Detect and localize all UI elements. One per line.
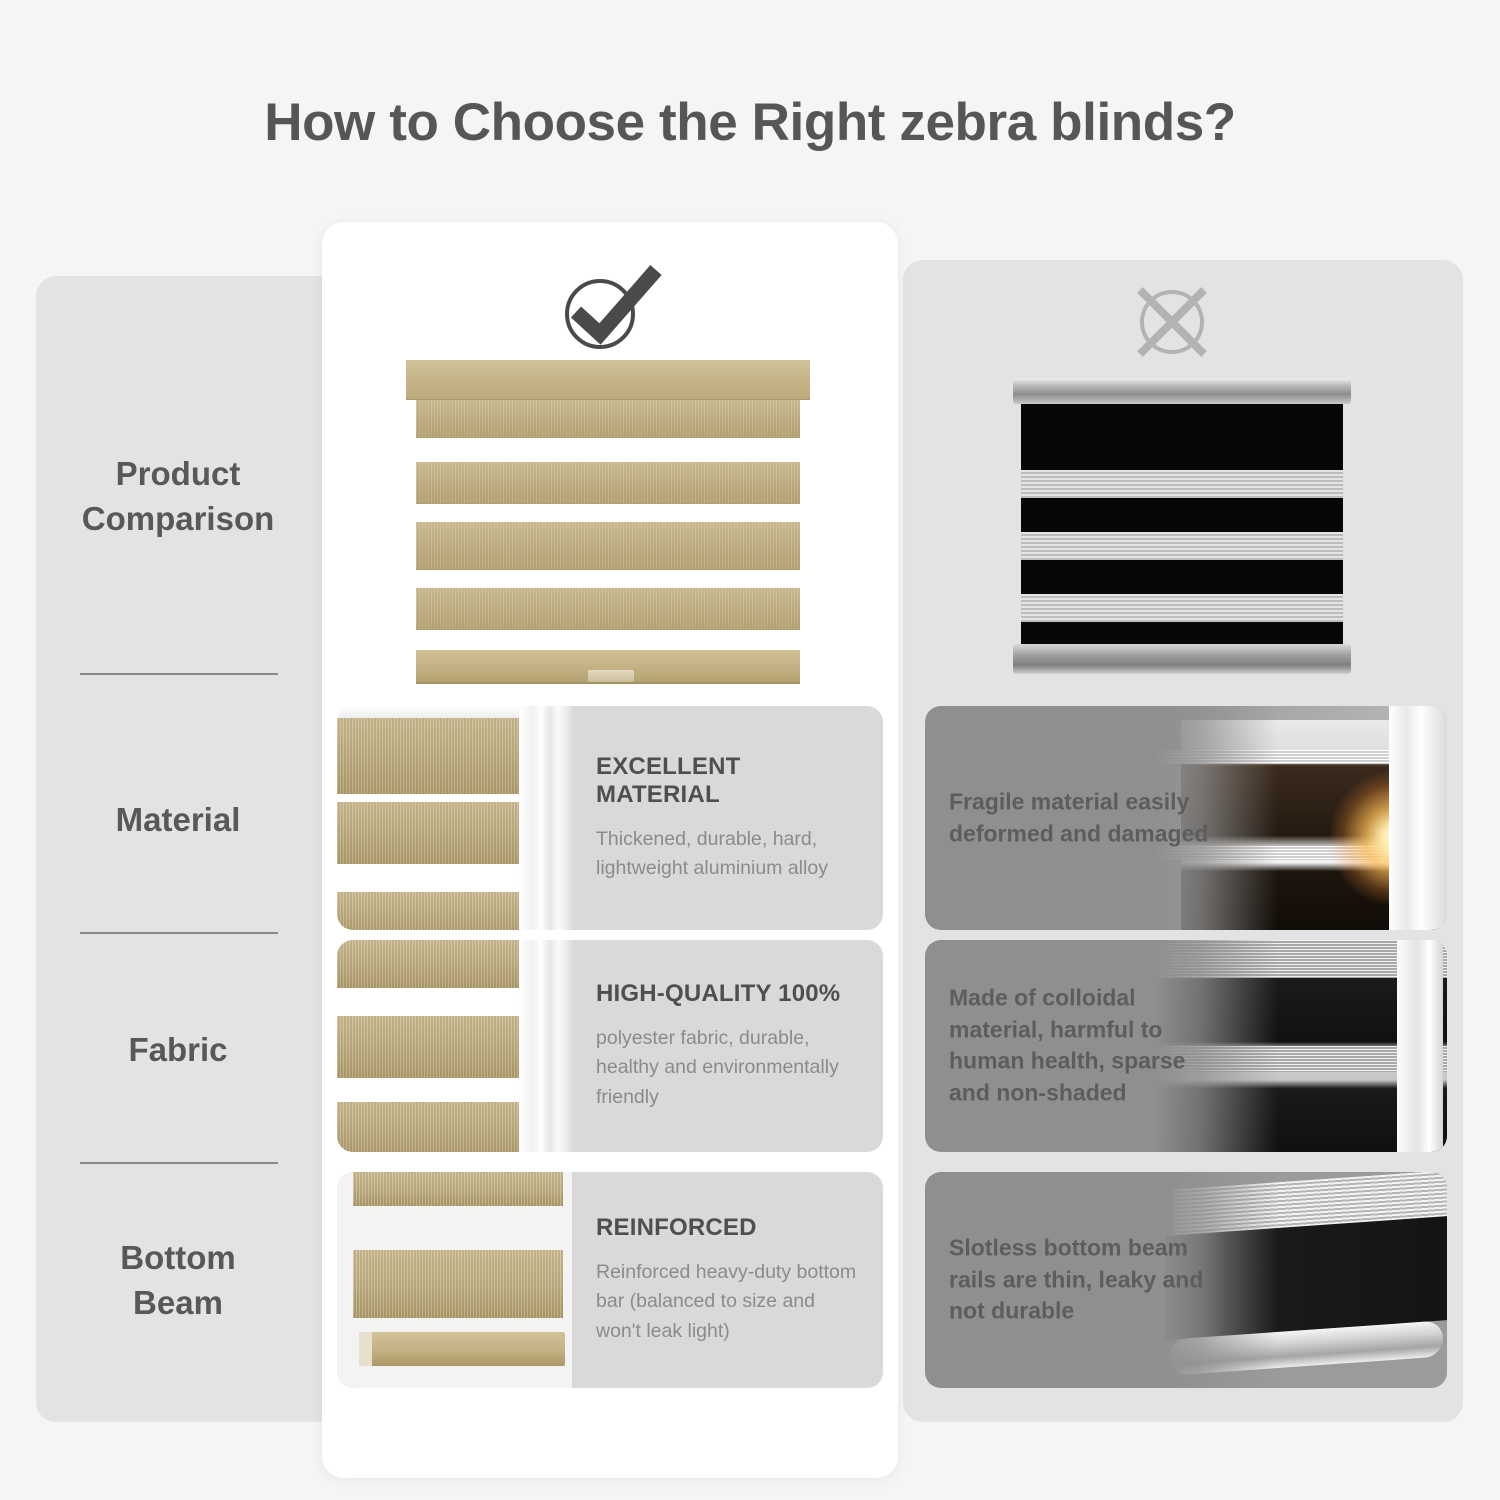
bad-material-text: Fragile material easily deformed and dam… <box>949 786 1217 849</box>
wood-headrail <box>406 360 810 400</box>
sheer-band <box>1021 532 1343 560</box>
white-window-frame <box>519 706 572 930</box>
sheer-slat-band <box>1173 1172 1447 1236</box>
row-label-line-1: Bottom <box>78 1236 278 1281</box>
x-circle-icon <box>1130 282 1214 360</box>
good-material-photo <box>337 706 572 930</box>
wood-band <box>337 1016 519 1078</box>
page-title: How to Choose the Right zebra blinds? <box>0 92 1500 153</box>
row-divider-3 <box>80 1162 278 1164</box>
row-label-line-1: Product <box>78 452 278 497</box>
row-label-line-2: Comparison <box>78 497 278 542</box>
wood-band <box>337 802 519 864</box>
good-feature-card-fabric: HIGH-QUALITY 100% polyester fabric, dura… <box>337 940 883 1152</box>
good-fabric-heading: HIGH-QUALITY 100% <box>596 980 857 1008</box>
bad-feature-card-fabric: Made of colloidal material, harmful to h… <box>925 940 1447 1152</box>
thin-slotless-bottom-rail <box>1169 1320 1443 1375</box>
row-label-line-2: Beam <box>78 1281 278 1326</box>
wood-slat <box>353 1250 563 1318</box>
aluminium-headrail <box>1013 378 1351 404</box>
bad-fabric-text: Made of colloidal material, harmful to h… <box>949 983 1217 1110</box>
good-feature-card-material: EXCELLENT MATERIAL Thickened, durable, h… <box>337 706 883 930</box>
aluminium-bottom-rail <box>1013 644 1351 674</box>
black-zebra-fabric <box>1021 404 1343 644</box>
bad-feature-card-material: Fragile material easily deformed and dam… <box>925 706 1447 930</box>
white-window-frame <box>1389 706 1447 930</box>
row-divider-1 <box>80 673 278 675</box>
wood-bottom-tab <box>588 670 634 682</box>
row-label-fabric: Fabric <box>78 1028 278 1073</box>
good-beam-text: REINFORCED Reinforced heavy-duty bottom … <box>572 1172 883 1388</box>
white-window-frame <box>1397 940 1443 1152</box>
good-feature-card-bottom-beam: REINFORCED Reinforced heavy-duty bottom … <box>337 1172 883 1388</box>
wood-slat <box>416 588 800 630</box>
wood-blind-closeup <box>337 706 572 930</box>
wood-band <box>337 1102 519 1152</box>
good-material-text: EXCELLENT MATERIAL Thickened, durable, h… <box>572 706 883 930</box>
row-divider-2 <box>80 932 278 934</box>
good-fabric-text: HIGH-QUALITY 100% polyester fabric, dura… <box>572 940 883 1152</box>
white-window-frame <box>519 940 572 1152</box>
bad-hero-image-black-zebra-blind <box>1013 378 1351 674</box>
check-circle-icon <box>556 262 664 354</box>
sheer-band <box>1021 470 1343 498</box>
wood-slat <box>416 400 800 438</box>
good-fabric-body: polyester fabric, durable, healthy and e… <box>596 1024 857 1112</box>
good-fabric-photo <box>337 940 572 1152</box>
wood-band <box>337 892 519 930</box>
good-beam-photo <box>337 1172 572 1388</box>
reinforced-bottom-bar <box>359 1332 565 1366</box>
reinforced-bottom-bar-closeup <box>337 1172 572 1388</box>
sheer-band <box>1021 594 1343 622</box>
wood-slat <box>416 462 800 504</box>
row-label-bottom-beam: Bottom Beam <box>78 1236 278 1325</box>
good-material-body: Thickened, durable, hard, lightweight al… <box>596 825 857 884</box>
row-label-product-comparison: Product Comparison <box>78 452 278 541</box>
good-hero-image-wood-zebra-blind <box>406 360 810 696</box>
bad-beam-text: Slotless bottom beam rails are thin, lea… <box>949 1232 1217 1327</box>
wood-slat <box>353 1172 563 1206</box>
bad-feature-card-bottom-beam: Slotless bottom beam rails are thin, lea… <box>925 1172 1447 1388</box>
wood-band <box>337 718 519 794</box>
wood-band <box>337 940 519 988</box>
row-label-material: Material <box>78 798 278 843</box>
good-material-heading: EXCELLENT MATERIAL <box>596 753 857 809</box>
wood-head-cap <box>337 706 519 718</box>
infographic-root: How to Choose the Right zebra blinds? Pr… <box>0 0 1500 1500</box>
good-beam-body: Reinforced heavy-duty bottom bar (balanc… <box>596 1258 857 1346</box>
wood-slat <box>416 522 800 570</box>
wood-fabric-closeup <box>337 940 572 1152</box>
good-beam-heading: REINFORCED <box>596 1214 857 1242</box>
